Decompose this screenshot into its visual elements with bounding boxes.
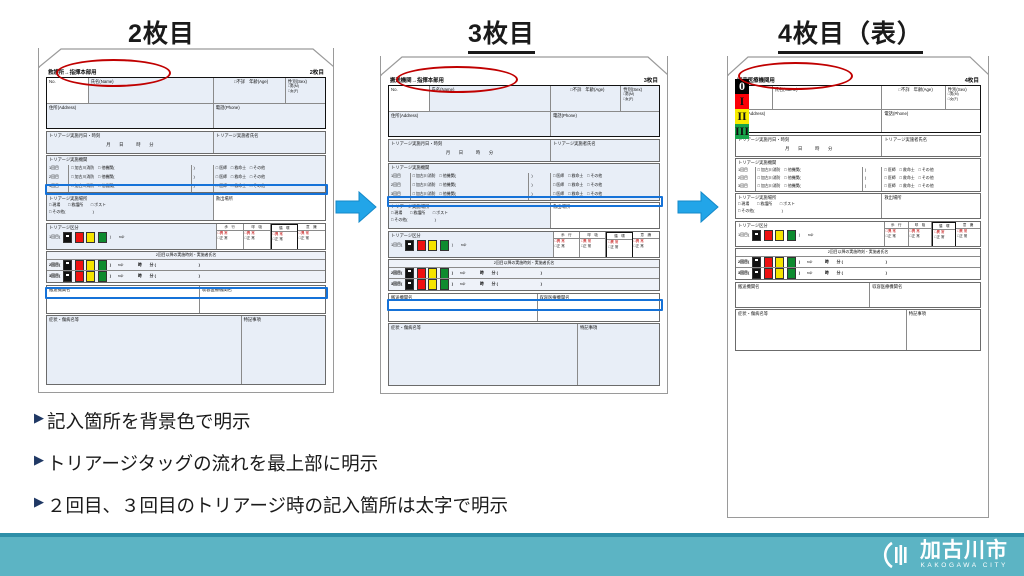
field-triage-datetime[interactable]: トリアージ実施月日・時刻 月 日 時 分 bbox=[736, 136, 882, 156]
card-sheet-no: 4枚目 bbox=[965, 76, 979, 84]
field-triage-person[interactable]: トリアージ実施者氏名 bbox=[551, 140, 659, 161]
field-unknown-checkbox[interactable]: □不詳 bbox=[882, 86, 911, 110]
round3-time[interactable]: 時 分 ( ) bbox=[480, 282, 542, 287]
chip-green-icon[interactable] bbox=[440, 279, 449, 290]
datetime-block: トリアージ実施月日・時刻 月 日 時 分 トリアージ実施者氏名 bbox=[735, 135, 981, 157]
vital-consciousness-normal[interactable]: □正 常 bbox=[633, 244, 659, 248]
bullet-text-3: ２回目、３回目のトリアージ時の記入箇所は太字で明示 bbox=[47, 492, 508, 518]
field-triage-place[interactable]: トリアージ実施場所 □ 現場 □ 救護所 □ ポスト □ その他( ) bbox=[47, 195, 214, 220]
org-close-1: ) bbox=[863, 167, 883, 175]
org-close-3: ) bbox=[863, 183, 883, 191]
right-arrow-icon: ⇨ bbox=[118, 273, 124, 280]
org-roles-2[interactable]: □ 医師 □ 救命士 □ その他 bbox=[551, 182, 659, 191]
round2-close: ) bbox=[799, 260, 800, 265]
org-opts-2[interactable]: □ 加古川消防 □ 他機関( bbox=[411, 182, 530, 191]
chip-red-icon[interactable] bbox=[75, 232, 84, 243]
column-heading-2: 3枚目 bbox=[468, 14, 535, 54]
triage-datetime-label: トリアージ実施月日・時刻 bbox=[391, 141, 548, 146]
round2-label: 2回目( bbox=[738, 260, 749, 265]
symptoms-block: 症状・傷病名等 特記事項 bbox=[388, 323, 660, 386]
vital-breath[interactable]: 呼 吸 □異 常 □正 常 bbox=[580, 232, 606, 257]
symptoms-block: 症状・傷病名等 特記事項 bbox=[735, 309, 981, 351]
chip-green-icon[interactable] bbox=[98, 260, 107, 271]
field-name[interactable]: 氏名(Name) bbox=[430, 86, 552, 112]
org-opts-2[interactable]: □ 加古川消防 □ 他機関( bbox=[756, 175, 863, 183]
field-rescue-place[interactable]: 救出場所 bbox=[882, 194, 980, 218]
field-no[interactable]: No. bbox=[47, 78, 89, 104]
triage-place-opts-1[interactable]: □ 現場 □ 救護所 □ ポスト bbox=[738, 202, 879, 207]
field-remarks[interactable]: 特記事項 bbox=[578, 324, 659, 385]
vital-breath-normal[interactable]: □正 常 bbox=[244, 236, 270, 240]
chip-yellow-icon[interactable] bbox=[428, 240, 437, 251]
right-arrow-icon: ⇨ bbox=[118, 262, 124, 269]
round2-label: 2回目( bbox=[391, 271, 402, 276]
round1-label: 1回目( bbox=[391, 243, 402, 248]
right-arrow-icon: ⇨ bbox=[808, 232, 814, 239]
org-roles-3[interactable]: □ 医師 □ 救命士 □ その他 bbox=[214, 183, 325, 192]
field-sex-female[interactable]: □女(F) bbox=[948, 97, 978, 101]
round1-close: ) bbox=[110, 235, 111, 240]
round2-time[interactable]: 時 分 ( ) bbox=[480, 271, 542, 276]
round1-label: 1回目( bbox=[49, 235, 60, 240]
triage-place-opts-2[interactable]: □ その他( ) bbox=[391, 218, 548, 223]
color-chips-round2[interactable] bbox=[63, 260, 107, 271]
subsequent-label: 2回目以降の実施時刻・実施者氏名 bbox=[736, 249, 980, 257]
round3-time[interactable]: 時 分 ( ) bbox=[825, 271, 887, 276]
org-roles-2[interactable]: □ 医師 □ 救命士 □ その他 bbox=[882, 175, 980, 183]
field-age[interactable]: 年齢(Age) bbox=[247, 78, 286, 104]
triage-org-block: トリアージ実施機関 1回目 □ 加古川消防 □ 他機関( ) □ 医師 □ 救命… bbox=[735, 158, 981, 192]
field-unknown-checkbox[interactable]: □不詳 bbox=[214, 78, 247, 104]
org-roles-3[interactable]: □ 医師 □ 救命士 □ その他 bbox=[882, 183, 980, 191]
org-close-3: ) bbox=[192, 183, 214, 192]
chip-yellow-icon[interactable] bbox=[775, 257, 784, 268]
color-chips-round2[interactable] bbox=[405, 268, 449, 279]
chip-black-icon[interactable] bbox=[405, 240, 414, 251]
org-close-2: ) bbox=[863, 175, 883, 183]
card-notch bbox=[381, 56, 667, 76]
field-sex[interactable]: 性別(Sex) □男(M) □女(F) bbox=[621, 86, 659, 112]
triage-class-block: トリアージ区分 1回目( ) ⇨ bbox=[388, 231, 660, 258]
chip-black-icon[interactable] bbox=[63, 260, 72, 271]
chip-yellow-icon[interactable] bbox=[86, 232, 95, 243]
vital-circulation[interactable]: 循 環 □異 常 □正 常 bbox=[932, 222, 956, 246]
chip-black-icon[interactable] bbox=[405, 268, 414, 279]
bullet-item-2: ▶ トリアージタッグの流れを最上部に明示 bbox=[34, 450, 674, 476]
symptoms-block: 症状・傷病名等 特記事項 bbox=[46, 315, 326, 385]
color-chips-round1[interactable] bbox=[405, 240, 449, 251]
org-round-3: 3回目 bbox=[389, 191, 411, 200]
triage-class-block: トリアージ区分 1回目( ) ⇨ bbox=[46, 223, 326, 250]
bullet-text-2: トリアージタッグの流れを最上部に明示 bbox=[47, 450, 378, 476]
card-header-row: 救護所→指揮本部用 2枚目 bbox=[46, 67, 326, 77]
round3-time[interactable]: 時 分 ( ) bbox=[138, 274, 200, 279]
chip-yellow-icon[interactable] bbox=[428, 279, 437, 290]
triage-datetime-units: 月 日 時 分 bbox=[738, 146, 879, 151]
identity-block: No. 氏名(Name) □不詳 年齢(Age) 性別(Sex) □男(M) □… bbox=[388, 85, 660, 137]
right-arrow-icon: ⇨ bbox=[461, 242, 467, 249]
vital-walk[interactable]: 歩 行 □異 常 □正 常 bbox=[554, 232, 580, 257]
field-sex-female[interactable]: □女(F) bbox=[288, 89, 323, 93]
chip-yellow-icon[interactable] bbox=[775, 268, 784, 279]
field-transport-org[interactable]: 搬送機関名 bbox=[389, 294, 538, 321]
bullet-list: ▶ 記入箇所を背景色で明示 ▶ トリアージタッグの流れを最上部に明示 ▶ ２回目… bbox=[34, 408, 674, 534]
chip-black-icon[interactable] bbox=[63, 271, 72, 282]
transport-block: 搬送機関名 収容医療機関名 bbox=[735, 282, 981, 308]
bullet-marker-icon: ▶ bbox=[34, 450, 44, 470]
org-roles-2[interactable]: □ 医師 □ 救命士 □ その他 bbox=[214, 174, 325, 183]
triage-card-2: 救護所→指揮本部用 2枚目 No. 氏名(Name) □不詳 年齢(Age) 性… bbox=[38, 48, 334, 393]
chip-red-icon[interactable] bbox=[75, 260, 84, 271]
legend-bar-0: 0 bbox=[735, 79, 749, 94]
org-roles-1[interactable]: □ 医師 □ 救命士 □ その他 bbox=[882, 167, 980, 175]
datetime-block: トリアージ実施月日・時刻 月 日 時 分 トリアージ実施者氏名 bbox=[46, 131, 326, 154]
logo-title-en: KAKOGAWA CITY bbox=[920, 563, 1008, 570]
field-transport-org[interactable]: 搬送機関名 bbox=[736, 283, 870, 307]
vital-circulation-normal[interactable]: □正 常 bbox=[607, 245, 631, 249]
field-rescue-place[interactable]: 救出場所 bbox=[214, 195, 325, 220]
org-round-3: 3回目 bbox=[47, 183, 69, 192]
vital-consciousness[interactable]: 意 識 □異 常 □正 常 bbox=[298, 224, 325, 249]
org-opts-3[interactable]: □ 加古川消防 □ 他機関( bbox=[69, 183, 191, 192]
chip-red-icon[interactable] bbox=[75, 271, 84, 282]
chip-red-icon[interactable] bbox=[417, 240, 426, 251]
vital-circulation-normal[interactable]: □正 常 bbox=[272, 237, 297, 241]
triage-card-4: 収容医療機関用 4枚目 No. 氏名(Name) □不詳 年齢(Age) 性別(… bbox=[727, 56, 989, 518]
color-chips-round3[interactable] bbox=[63, 271, 107, 282]
field-address[interactable]: 住所(Address) bbox=[736, 110, 882, 132]
field-transport-org[interactable]: 搬送機関名 bbox=[47, 286, 200, 313]
chip-red-icon[interactable] bbox=[764, 257, 773, 268]
field-remarks[interactable]: 特記事項 bbox=[907, 310, 980, 350]
field-name[interactable]: 氏名(Name) bbox=[773, 86, 883, 110]
round2-row[interactable]: 2回目( ) ⇨ 時 分 ( ) bbox=[47, 260, 325, 271]
field-triage-place[interactable]: トリアージ実施場所 □ 現場 □ 救護所 □ ポスト □ その他( ) bbox=[389, 203, 551, 228]
vital-walk-normal[interactable]: □正 常 bbox=[885, 234, 908, 238]
triage-place-opts-2[interactable]: □ その他( ) bbox=[49, 210, 211, 215]
chip-yellow-icon[interactable] bbox=[86, 271, 95, 282]
triage-place-block: トリアージ実施場所 □ 現場 □ 救護所 □ ポスト □ その他( ) 救出場所 bbox=[735, 193, 981, 219]
color-chips-round3[interactable] bbox=[752, 268, 796, 279]
transport-block: 搬送機関名 収容医療機関名 bbox=[46, 285, 326, 314]
triage-org-label: トリアージ実施機関 bbox=[389, 164, 659, 173]
color-chips-round1[interactable] bbox=[63, 232, 107, 243]
org-round-2: 2回目 bbox=[47, 174, 69, 183]
field-symptoms[interactable]: 症状・傷病名等 bbox=[47, 316, 242, 384]
logo-text-block: 加古川市 KAKOGAWA CITY bbox=[920, 540, 1008, 570]
chip-black-icon[interactable] bbox=[405, 279, 414, 290]
field-receiving-org[interactable]: 収容医療機関名 bbox=[200, 286, 325, 313]
round2-row[interactable]: 2回目( ) ⇨ 時 分 ( ) bbox=[389, 268, 659, 279]
field-triage-datetime[interactable]: トリアージ実施月日・時刻 月 日 時 分 bbox=[389, 140, 551, 161]
triage-place-opts-1[interactable]: □ 現場 □ 救護所 □ ポスト bbox=[391, 211, 548, 216]
chip-green-icon[interactable] bbox=[98, 271, 107, 282]
kakogawa-city-logo: 加古川市 KAKOGAWA CITY bbox=[883, 540, 1008, 570]
field-phone[interactable]: 電話(Phone) bbox=[214, 104, 325, 128]
identity-block: No. 氏名(Name) □不詳 年齢(Age) 性別(Sex) □男(M) □… bbox=[46, 77, 326, 129]
org-opts-3[interactable]: □ 加古川消防 □ 他機関( bbox=[411, 191, 530, 200]
card-sheet-no: 3枚目 bbox=[644, 76, 658, 84]
field-symptoms[interactable]: 症状・傷病名等 bbox=[736, 310, 907, 350]
vital-walk[interactable]: 歩 行 □異 常 □正 常 bbox=[217, 224, 244, 249]
org-roles-1[interactable]: □ 医師 □ 救命士 □ その他 bbox=[551, 173, 659, 182]
chip-black-icon[interactable] bbox=[752, 257, 761, 268]
field-no[interactable]: No. bbox=[389, 86, 430, 112]
bullet-marker-icon: ▶ bbox=[34, 408, 44, 428]
triage-datetime-label: トリアージ実施月日・時刻 bbox=[738, 137, 879, 142]
triage-card-3: 搬送機関→指揮本部用 3枚目 No. 氏名(Name) □不詳 年齢(Age) … bbox=[380, 56, 668, 394]
card-header-row: 搬送機関→指揮本部用 3枚目 bbox=[388, 75, 660, 85]
field-sex[interactable]: 性別(Sex) □男(M) □女(F) bbox=[946, 86, 980, 110]
vital-walk-normal[interactable]: □正 常 bbox=[217, 236, 243, 240]
subsequent-rounds-block: 2回目以降の実施時刻・実施者氏名 2回目( ) ⇨ 時 分 ( bbox=[735, 248, 981, 280]
triage-datetime-units: 月 日 時 分 bbox=[391, 150, 548, 155]
color-chips-round3[interactable] bbox=[405, 279, 449, 290]
chip-red-icon[interactable] bbox=[417, 279, 426, 290]
vital-consciousness[interactable]: 意 識 □異 常 □正 常 bbox=[633, 232, 659, 257]
card-use-label: 救護所→指揮本部用 bbox=[48, 68, 97, 76]
identity-block: No. 氏名(Name) □不詳 年齢(Age) 性別(Sex) □男(M) □… bbox=[735, 85, 981, 133]
field-name[interactable]: 氏名(Name) bbox=[89, 78, 214, 104]
chip-green-icon[interactable] bbox=[98, 232, 107, 243]
round2-time[interactable]: 時 分 ( ) bbox=[138, 263, 200, 268]
round3-row[interactable]: 3回目( ) ⇨ 時 分 ( ) bbox=[389, 279, 659, 290]
field-sex[interactable]: 性別(Sex) □男(M) □女(F) bbox=[286, 78, 325, 104]
chip-yellow-icon[interactable] bbox=[428, 268, 437, 279]
vital-circulation[interactable]: 循 環 □異 常 □正 常 bbox=[606, 232, 632, 257]
chip-red-icon[interactable] bbox=[764, 230, 773, 241]
round3-close: ) bbox=[110, 274, 111, 279]
org-round-2: 2回目 bbox=[736, 175, 756, 183]
field-receiving-org[interactable]: 収容医療機関名 bbox=[870, 283, 980, 307]
round3-close: ) bbox=[452, 282, 453, 287]
chip-green-icon[interactable] bbox=[440, 240, 449, 251]
triage-place-opts-1[interactable]: □ 現場 □ 救護所 □ ポスト bbox=[49, 203, 211, 208]
triage-class-cell[interactable]: トリアージ区分 1回目( ) ⇨ bbox=[736, 222, 885, 246]
chip-black-icon[interactable] bbox=[752, 268, 761, 279]
flow-arrow-2 bbox=[676, 190, 720, 229]
field-triage-place[interactable]: トリアージ実施場所 □ 現場 □ 救護所 □ ポスト □ その他( ) bbox=[736, 194, 882, 218]
triage-class-label: トリアージ区分 bbox=[738, 223, 882, 228]
vital-walk-normal[interactable]: □正 常 bbox=[554, 244, 579, 248]
card-notch bbox=[39, 48, 333, 68]
round3-label: 3回目( bbox=[738, 271, 749, 276]
round3-row[interactable]: 3回目( ) ⇨ 時 分 ( ) bbox=[736, 268, 980, 279]
org-round-1: 1回目 bbox=[47, 165, 69, 174]
field-rescue-place[interactable]: 救出場所 bbox=[551, 203, 659, 228]
chip-black-icon[interactable] bbox=[752, 230, 761, 241]
field-phone[interactable]: 電話(Phone) bbox=[551, 112, 659, 136]
round2-close: ) bbox=[452, 271, 453, 276]
triage-class-label: トリアージ区分 bbox=[49, 225, 214, 230]
field-name-label: 氏名(Name) bbox=[91, 79, 114, 84]
right-arrow-icon: ⇨ bbox=[119, 234, 125, 241]
chip-green-icon[interactable] bbox=[787, 230, 796, 241]
triage-place-block: トリアージ実施場所 □ 現場 □ 救護所 □ ポスト □ その他( ) 救出場所 bbox=[388, 202, 660, 229]
field-phone[interactable]: 電話(Phone) bbox=[882, 110, 980, 132]
triage-place-opts-2[interactable]: □ その他( ) bbox=[738, 209, 879, 214]
vital-breath-normal[interactable]: □正 常 bbox=[909, 234, 932, 238]
round3-close: ) bbox=[799, 271, 800, 276]
triage-place-label: トリアージ実施場所 bbox=[738, 195, 879, 200]
field-remarks[interactable]: 特記事項 bbox=[242, 316, 325, 384]
subsequent-label: 2回目以降の実施時刻・実施者氏名 bbox=[389, 260, 659, 268]
legend-bar-2: II bbox=[735, 109, 749, 124]
triage-class-cell[interactable]: トリアージ区分 1回目( ) ⇨ bbox=[389, 232, 554, 257]
org-round-1: 1回目 bbox=[736, 167, 756, 175]
vital-consciousness[interactable]: 意 識 □異 常 □正 常 bbox=[956, 222, 980, 246]
chip-green-icon[interactable] bbox=[787, 257, 796, 268]
chip-yellow-icon[interactable] bbox=[86, 260, 95, 271]
chip-yellow-icon[interactable] bbox=[775, 230, 784, 241]
triage-org-label: トリアージ実施機関 bbox=[736, 159, 980, 167]
card-notch bbox=[728, 56, 988, 76]
org-close-1: ) bbox=[192, 165, 214, 174]
card-sheet-no: 2枚目 bbox=[310, 68, 324, 76]
right-arrow-icon: ⇨ bbox=[460, 270, 466, 277]
triage-datetime-units: 月 日 時 分 bbox=[49, 142, 211, 147]
right-arrow-icon: ⇨ bbox=[807, 259, 813, 266]
triage-place-label: トリアージ実施場所 bbox=[49, 196, 211, 201]
org-close-2: ) bbox=[192, 174, 214, 183]
chip-green-icon[interactable] bbox=[440, 268, 449, 279]
org-close-3: ) bbox=[529, 191, 551, 200]
round2-row[interactable]: 2回目( ) ⇨ 時 分 ( ) bbox=[736, 257, 980, 268]
triage-datetime-label: トリアージ実施月日・時刻 bbox=[49, 133, 211, 138]
org-opts-2[interactable]: □ 加古川消防 □ 他機関( bbox=[69, 174, 191, 183]
card-use-label: 搬送機関→指揮本部用 bbox=[390, 76, 444, 84]
field-triage-person[interactable]: トリアージ実施者氏名 bbox=[882, 136, 980, 156]
org-opts-1[interactable]: □ 加古川消防 □ 他機関( bbox=[411, 173, 530, 182]
vital-breath[interactable]: 呼 吸 □異 常 □正 常 bbox=[909, 222, 933, 246]
vital-consciousness-normal[interactable]: □正 常 bbox=[956, 234, 980, 238]
field-triage-datetime[interactable]: トリアージ実施月日・時刻 月 日 時 分 bbox=[47, 132, 214, 153]
bullet-text-1: 記入箇所を背景色で明示 bbox=[47, 408, 251, 434]
org-close-1: ) bbox=[529, 173, 551, 182]
chip-green-icon[interactable] bbox=[787, 268, 796, 279]
bullet-item-3: ▶ ２回目、３回目のトリアージ時の記入箇所は太字で明示 bbox=[34, 492, 674, 518]
logo-title-jp: 加古川市 bbox=[920, 540, 1008, 561]
triage-place-block: トリアージ実施場所 □ 現場 □ 救護所 □ ポスト □ その他( ) 救出場所 bbox=[46, 194, 326, 221]
round1-close: ) bbox=[452, 243, 453, 248]
bullet-marker-icon: ▶ bbox=[34, 492, 44, 512]
subsequent-rounds-block: 2回目以降の実施時刻・実施者氏名 2回目( ) ⇨ 時 分 ( bbox=[388, 259, 660, 291]
legend-bar-1: I bbox=[735, 94, 749, 109]
triage-org-block: トリアージ実施機関 1回目 □ 加古川消防 □ 他機関( ) □ 医師 □ 救命… bbox=[46, 155, 326, 193]
org-opts-1[interactable]: □ 加古川消防 □ 他機関( bbox=[756, 167, 863, 175]
triage-class-block: トリアージ区分 1回目( ) ⇨ bbox=[735, 221, 981, 247]
field-address[interactable]: 住所(Address) bbox=[47, 104, 214, 128]
field-symptoms[interactable]: 症状・傷病名等 bbox=[389, 324, 578, 385]
column-heading-3: 4枚目（表） bbox=[778, 14, 923, 54]
org-round-1: 1回目 bbox=[389, 173, 411, 182]
field-sex-female[interactable]: □女(F) bbox=[623, 97, 657, 101]
field-age[interactable]: 年齢(Age) bbox=[912, 86, 946, 110]
triage-color-legend: 0 I II III bbox=[735, 79, 749, 139]
round1-label: 1回目( bbox=[738, 233, 749, 238]
card-header-row: 収容医療機関用 4枚目 bbox=[735, 75, 981, 85]
right-arrow-icon: ⇨ bbox=[460, 281, 466, 288]
org-round-2: 2回目 bbox=[389, 182, 411, 191]
vital-breath-normal[interactable]: □正 常 bbox=[580, 244, 605, 248]
org-roles-1[interactable]: □ 医師 □ 救命士 □ その他 bbox=[214, 165, 325, 174]
chip-red-icon[interactable] bbox=[764, 268, 773, 279]
field-triage-person[interactable]: トリアージ実施者氏名 bbox=[214, 132, 325, 153]
vital-consciousness-normal[interactable]: □正 常 bbox=[298, 236, 325, 240]
subsequent-rounds-block: 2回目以降の実施時刻・実施者氏名 2回目( ) ⇨ 時 分 ( bbox=[46, 251, 326, 283]
round3-row[interactable]: 3回目( ) ⇨ 時 分 ( ) bbox=[47, 271, 325, 282]
chip-black-icon[interactable] bbox=[63, 232, 72, 243]
triage-class-label: トリアージ区分 bbox=[391, 233, 551, 238]
org-round-3: 3回目 bbox=[736, 183, 756, 191]
vital-walk[interactable]: 歩 行 □異 常 □正 常 bbox=[885, 222, 909, 246]
field-receiving-org[interactable]: 収容医療機関名 bbox=[538, 294, 660, 321]
org-close-2: ) bbox=[529, 182, 551, 191]
triage-class-cell[interactable]: トリアージ区分 1回目( ) ⇨ bbox=[47, 224, 217, 249]
round3-label: 3回目( bbox=[49, 274, 60, 279]
field-age[interactable]: 年齢(Age) bbox=[583, 86, 621, 112]
vital-breath[interactable]: 呼 吸 □異 常 □正 常 bbox=[244, 224, 271, 249]
legend-bar-3: III bbox=[735, 124, 749, 139]
vital-circulation-normal[interactable]: □正 常 bbox=[933, 235, 955, 239]
right-arrow-icon: ⇨ bbox=[807, 270, 813, 277]
round2-label: 2回目( bbox=[49, 263, 60, 268]
flow-arrow-1 bbox=[334, 190, 378, 229]
org-opts-1[interactable]: □ 加古川消防 □ 他機関( bbox=[69, 165, 191, 174]
bullet-item-1: ▶ 記入箇所を背景色で明示 bbox=[34, 408, 674, 434]
triage-org-label: トリアージ実施機関 bbox=[47, 156, 325, 165]
vital-circulation[interactable]: 循 環 □異 常 □正 常 bbox=[271, 224, 298, 249]
round2-close: ) bbox=[110, 263, 111, 268]
round3-label: 3回目( bbox=[391, 282, 402, 287]
slide-root: 2枚目 3枚目 4枚目（表） 救護所→指揮本部用 2枚目 No. 氏名(Name… bbox=[0, 0, 1024, 576]
chip-red-icon[interactable] bbox=[417, 268, 426, 279]
org-roles-3[interactable]: □ 医師 □ 救命士 □ その他 bbox=[551, 191, 659, 200]
datetime-block: トリアージ実施月日・時刻 月 日 時 分 トリアージ実施者氏名 bbox=[388, 139, 660, 162]
kakogawa-logo-mark-icon bbox=[883, 540, 913, 570]
color-chips-round2[interactable] bbox=[752, 257, 796, 268]
footer-band bbox=[0, 537, 1024, 576]
field-unknown-checkbox[interactable]: □不詳 bbox=[551, 86, 583, 112]
color-chips-round1[interactable] bbox=[752, 230, 796, 241]
triage-org-block: トリアージ実施機関 1回目 □ 加古川消防 □ 他機関( ) □ 医師 □ 救命… bbox=[388, 163, 660, 201]
triage-place-label: トリアージ実施場所 bbox=[391, 204, 548, 209]
round1-close: ) bbox=[799, 233, 800, 238]
transport-block: 搬送機関名 収容医療機関名 bbox=[388, 293, 660, 322]
round2-time[interactable]: 時 分 ( ) bbox=[825, 260, 887, 265]
subsequent-label: 2回目以降の実施時刻・実施者氏名 bbox=[47, 252, 325, 260]
org-opts-3[interactable]: □ 加古川消防 □ 他機関( bbox=[756, 183, 863, 191]
field-address[interactable]: 住所(Address) bbox=[389, 112, 551, 136]
